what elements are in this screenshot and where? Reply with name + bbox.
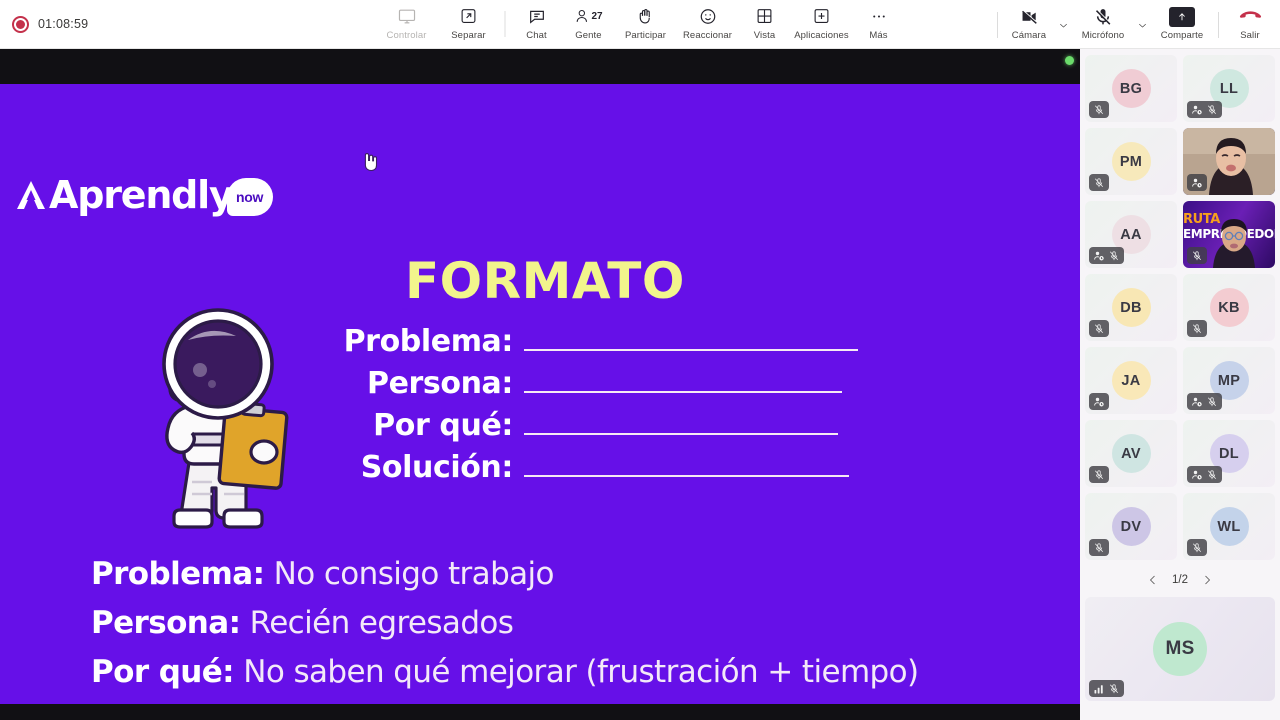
participant-tile-bg[interactable]: BG — [1085, 55, 1177, 122]
toolbar-label: Salir — [1240, 30, 1260, 41]
toolbar-button-vista[interactable]: Vista — [739, 0, 791, 47]
person-pinned-icon — [1191, 469, 1203, 481]
meeting-window: 01:08:59 Controlar Separar Chat — [0, 0, 1280, 720]
avatar: JA — [1112, 361, 1151, 400]
logo-now-label: now — [236, 189, 263, 205]
answer-label: Por qué: — [91, 654, 234, 690]
toolbar-divider — [1218, 12, 1219, 38]
participant-tile-av[interactable]: AV — [1085, 420, 1177, 487]
shared-screen-stage[interactable]: Aprendly now — [0, 49, 1080, 720]
avatar: MS — [1153, 622, 1207, 676]
participant-pagination: 1/2 — [1085, 567, 1275, 593]
mic-muted-icon — [1093, 542, 1105, 554]
person-pinned-icon — [1093, 250, 1105, 262]
tile-badges — [1187, 247, 1207, 264]
mic-muted-icon — [1093, 469, 1105, 481]
raise-hand-icon — [637, 5, 655, 28]
avatar: PM — [1112, 142, 1151, 181]
mic-muted-icon — [1206, 396, 1218, 408]
astronaut-with-clipboard-icon — [138, 306, 298, 534]
answer-text: No consigo trabajo — [274, 556, 554, 592]
grid-view-icon — [756, 5, 774, 28]
participant-rail: BG LL PM — [1080, 49, 1280, 720]
answer-row: Problema: No consigo trabajo — [91, 556, 1001, 592]
pop-out-icon — [460, 5, 478, 28]
tile-badges — [1089, 101, 1109, 118]
avatar: AV — [1112, 434, 1151, 473]
answer-text: Recién egresados — [250, 605, 514, 641]
camera-off-icon — [1018, 5, 1041, 28]
toolbar-button-participar[interactable]: Participar — [615, 0, 677, 47]
toolbar-label: Gente — [575, 30, 601, 41]
tile-badges — [1187, 174, 1207, 191]
microphone-options-chevron-down-icon[interactable] — [1134, 0, 1151, 47]
participant-grid: BG LL PM — [1085, 55, 1275, 560]
participant-tile-db[interactable]: DB — [1085, 274, 1177, 341]
meeting-toolbar: 01:08:59 Controlar Separar Chat — [0, 0, 1280, 49]
toolbar-center-actions: Controlar Separar Chat 27 — [376, 0, 905, 49]
leave-call-button[interactable]: Salir — [1224, 0, 1276, 47]
mic-muted-icon — [1108, 250, 1120, 262]
pointing-hand-cursor — [362, 152, 378, 172]
format-field-blank — [524, 409, 838, 435]
toolbar-label: Comparte — [1161, 30, 1204, 41]
toolbar-label: Cámara — [1012, 30, 1046, 41]
format-field-label: Solución: — [330, 450, 513, 485]
avatar: DB — [1112, 288, 1151, 327]
toolbar-button-gente[interactable]: 27 Gente — [563, 0, 615, 47]
format-field-blank — [524, 451, 849, 477]
format-field-label: Problema: — [330, 324, 513, 359]
mic-muted-icon — [1108, 683, 1120, 695]
format-field-label: Persona: — [330, 366, 513, 401]
share-screen-button[interactable]: Comparte — [1151, 0, 1213, 47]
toolbar-divider — [997, 12, 998, 38]
mic-muted-icon — [1206, 469, 1218, 481]
avatar: DV — [1112, 507, 1151, 546]
tile-badges — [1089, 320, 1109, 337]
format-field-row: Solución: — [330, 450, 890, 485]
tile-badges — [1089, 393, 1109, 410]
self-view-tile[interactable]: MS — [1085, 597, 1275, 701]
participant-tile-mp[interactable]: MP — [1183, 347, 1275, 414]
answer-label: Problema: — [91, 556, 264, 592]
participant-tile-active-speaker-video[interactable] — [1183, 128, 1275, 195]
toolbar-label: Reaccionar — [683, 30, 732, 41]
answer-text: Servicio que revise CV + simulación de e… — [256, 703, 1001, 704]
answer-row: Persona: Recién egresados — [91, 605, 1001, 641]
format-field-row: Problema: — [330, 324, 890, 359]
avatar: WL — [1210, 507, 1249, 546]
tile-badges — [1187, 320, 1207, 337]
participant-tile-ruta-video[interactable]: RUTA EMPRENDEDOR — [1183, 201, 1275, 268]
tile-badges — [1187, 393, 1222, 410]
toolbar-right-actions: Cámara Micrófono — [992, 0, 1276, 49]
chevron-left-icon[interactable] — [1147, 574, 1159, 586]
format-field-label: Por qué: — [330, 408, 513, 443]
mic-muted-icon — [1093, 177, 1105, 189]
answer-text: No saben qué mejorar (frustración + tiem… — [243, 654, 918, 690]
logo-now-badge: now — [227, 178, 273, 216]
camera-toggle-button[interactable]: Cámara — [1003, 0, 1055, 47]
apps-plus-icon — [813, 5, 831, 28]
record-dot-icon — [12, 16, 29, 33]
avatar: KB — [1210, 288, 1249, 327]
toolbar-divider — [505, 11, 506, 37]
participant-tile-kb[interactable]: KB — [1183, 274, 1275, 341]
tile-badges — [1089, 680, 1124, 697]
remote-control-icon — [397, 5, 416, 28]
mic-muted-icon — [1206, 104, 1218, 116]
green-dot-icon — [1065, 56, 1074, 65]
participant-tile-pm[interactable]: PM — [1085, 128, 1177, 195]
signal-bars-icon — [1093, 683, 1105, 695]
smiley-icon — [698, 5, 717, 28]
person-pinned-icon — [1191, 104, 1203, 116]
toolbar-label: Chat — [526, 30, 546, 41]
mic-muted-icon — [1191, 250, 1203, 262]
people-count: 27 — [591, 11, 602, 22]
answer-row: Por qué: No saben qué mejorar (frustraci… — [91, 654, 1001, 690]
answer-label: Solución: — [91, 703, 247, 704]
toolbar-label: Más — [869, 30, 887, 41]
tile-badges — [1089, 539, 1109, 556]
slide-answer-list: Problema: No consigo trabajo Persona: Re… — [91, 556, 1001, 704]
presentation-slide: Aprendly now — [0, 84, 1080, 704]
person-pinned-icon — [1191, 396, 1203, 408]
tile-badges — [1187, 466, 1222, 483]
format-field-blank — [524, 325, 858, 351]
logo-wordmark: Aprendly — [49, 176, 233, 214]
tile-badges — [1089, 247, 1124, 264]
participant-tile-wl[interactable]: WL — [1183, 493, 1275, 560]
person-pinned-icon — [1191, 177, 1203, 189]
answer-row: Solución: Servicio que revise CV + simul… — [91, 703, 1001, 704]
toolbar-button-mas[interactable]: Más — [853, 0, 905, 47]
recording-timer: 01:08:59 — [38, 17, 88, 31]
toolbar-button-chat[interactable]: Chat — [511, 0, 563, 47]
tile-badges — [1187, 539, 1207, 556]
person-pinned-icon — [1093, 396, 1105, 408]
participant-tile-ll[interactable]: LL — [1183, 55, 1275, 122]
recording-indicator: 01:08:59 — [0, 16, 230, 33]
mic-muted-icon — [1093, 323, 1105, 335]
format-field-list: Problema: Persona: Por qué: Solución: — [330, 324, 890, 492]
more-ellipsis-icon — [869, 5, 888, 28]
mic-muted-icon — [1191, 323, 1203, 335]
logo-mark-icon — [14, 178, 48, 212]
slide-title: FORMATO — [405, 256, 641, 306]
format-field-row: Persona: — [330, 366, 890, 401]
toolbar-label: Participar — [625, 30, 666, 41]
format-field-blank — [524, 367, 842, 393]
toolbar-button-reaccionar[interactable]: Reaccionar — [677, 0, 739, 47]
hangup-phone-icon — [1239, 5, 1262, 28]
participant-tile-aa[interactable]: AA — [1085, 201, 1177, 268]
camera-options-chevron-down-icon[interactable] — [1055, 0, 1072, 47]
microphone-off-icon — [1093, 5, 1113, 28]
chat-bubble-icon — [527, 5, 546, 28]
page-indicator: 1/2 — [1172, 574, 1188, 586]
avatar: BG — [1112, 69, 1151, 108]
share-screen-icon — [1169, 5, 1195, 28]
people-icon: 27 — [574, 5, 602, 28]
participant-tile-ja[interactable]: JA — [1085, 347, 1177, 414]
mic-muted-icon — [1191, 542, 1203, 554]
participant-tile-dl[interactable]: DL — [1183, 420, 1275, 487]
toolbar-label: Controlar — [387, 30, 427, 41]
answer-label: Persona: — [91, 605, 240, 641]
toolbar-label: Vista — [754, 30, 775, 41]
toolbar-label: Aplicaciones — [794, 30, 849, 41]
toolbar-button-controlar[interactable]: Controlar — [376, 0, 438, 47]
tile-badges — [1187, 101, 1222, 118]
toolbar-button-aplicaciones[interactable]: Aplicaciones — [791, 0, 853, 47]
mic-muted-icon — [1093, 104, 1105, 116]
tile-badges — [1089, 174, 1109, 191]
screen-share-letterbox — [0, 49, 1080, 84]
toolbar-label: Separar — [451, 30, 486, 41]
participant-tile-dv[interactable]: DV — [1085, 493, 1177, 560]
format-field-row: Por qué: — [330, 408, 890, 443]
toolbar-label: Micrófono — [1082, 30, 1125, 41]
aprendly-logo: Aprendly now — [14, 174, 273, 216]
microphone-toggle-button[interactable]: Micrófono — [1072, 0, 1134, 47]
toolbar-button-separar[interactable]: Separar — [438, 0, 500, 47]
tile-badges — [1089, 466, 1109, 483]
chevron-right-icon[interactable] — [1201, 574, 1213, 586]
